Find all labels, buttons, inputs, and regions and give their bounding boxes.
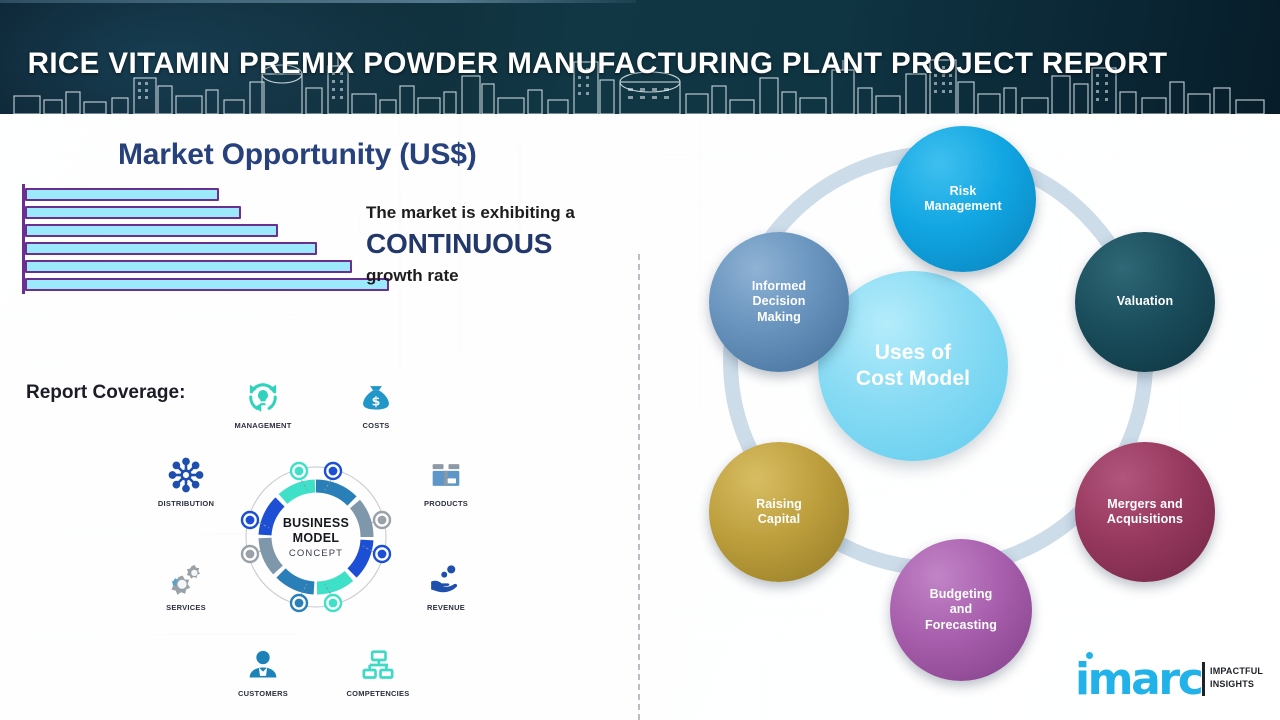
logo-wordmark: imarc xyxy=(1075,658,1201,702)
org-chart-icon xyxy=(340,644,416,686)
coverage-label-costs: COSTS xyxy=(341,421,411,430)
person-icon xyxy=(228,644,298,686)
bar-5 xyxy=(25,278,389,291)
slide-body: Market Opportunity (US$) The market is e… xyxy=(0,114,1280,720)
node-mergers-line-2: Acquisitions xyxy=(1101,512,1189,527)
recycle-lightbulb-icon xyxy=(225,376,301,418)
node-mergers-and-acquisitions[interactable]: Mergers and Acquisitions xyxy=(1075,442,1215,582)
bar-1 xyxy=(25,206,241,219)
coverage-item-management: MANAGEMENT xyxy=(225,376,301,430)
node-raising-capital[interactable]: Raising Capital xyxy=(709,442,849,582)
node-risk-line-1: Risk xyxy=(918,184,1007,199)
growth-emphasis: CONTINUOUS xyxy=(366,224,638,264)
report-coverage-label: Report Coverage: xyxy=(26,382,185,404)
coverage-label-services: SERVICES xyxy=(148,603,224,612)
package-box-icon xyxy=(411,454,481,496)
market-opportunity-title: Market Opportunity (US$) xyxy=(118,138,477,172)
node-mergers-line-1: Mergers and xyxy=(1101,497,1189,512)
coverage-item-services: SERVICES xyxy=(148,558,224,612)
header-banner: RICE VITAMIN PREMIX POWDER MANUFACTURING… xyxy=(0,0,1280,114)
svg-text:$: $ xyxy=(372,393,381,408)
left-panel: Market Opportunity (US$) The market is e… xyxy=(0,114,638,720)
node-center-line-1: Uses of xyxy=(850,340,976,366)
node-valuation[interactable]: Valuation xyxy=(1075,232,1215,372)
growth-callout: The market is exhibiting a CONTINUOUS gr… xyxy=(366,202,638,288)
node-informed-line-1: Informed xyxy=(746,279,812,294)
node-informed-line-3: Making xyxy=(746,310,812,325)
bar-2 xyxy=(25,224,278,237)
bar-3 xyxy=(25,242,317,255)
coverage-label-products: PRODUCTS xyxy=(411,499,481,508)
business-model-donut xyxy=(233,454,399,620)
growth-line-1: The market is exhibiting a xyxy=(366,202,638,224)
node-center-line-2: Cost Model xyxy=(850,366,976,392)
node-risk-line-2: Management xyxy=(918,199,1007,214)
node-raising-line-2: Capital xyxy=(750,512,808,527)
gears-icon xyxy=(148,558,224,600)
coverage-item-distribution: DISTRIBUTION xyxy=(148,454,224,508)
coverage-label-competencies: COMPETENCIES xyxy=(340,689,416,698)
node-budget-line-3: Forecasting xyxy=(919,618,1003,633)
coverage-item-costs: $ COSTS xyxy=(341,376,411,430)
node-budgeting-and-forecasting[interactable]: Budgeting and Forecasting xyxy=(890,539,1032,681)
node-informed-decision-making[interactable]: Informed Decision Making xyxy=(709,232,849,372)
coverage-item-customers: CUSTOMERS xyxy=(228,644,298,698)
growth-line-3: growth rate xyxy=(366,264,638,288)
right-panel: Uses of Cost Model Risk Management Valua… xyxy=(638,114,1280,720)
logo-divider-bar xyxy=(1202,662,1205,696)
logo-tagline-line-2: INSIGHTS xyxy=(1210,679,1254,689)
node-raising-line-1: Raising xyxy=(750,497,808,512)
market-opportunity-bar-chart xyxy=(22,184,402,294)
page-title: RICE VITAMIN PREMIX POWDER MANUFACTURING… xyxy=(0,47,1167,81)
imarc-logo[interactable]: imarc IMPACTFUL INSIGHTS xyxy=(1070,650,1266,706)
coverage-item-revenue: REVENUE xyxy=(411,558,481,612)
network-nodes-icon xyxy=(148,454,224,496)
coverage-label-management: MANAGEMENT xyxy=(225,421,301,430)
header-title-band: RICE VITAMIN PREMIX POWDER MANUFACTURING… xyxy=(0,36,1280,92)
node-budget-line-2: and xyxy=(919,602,1003,617)
business-model-diagram: BUSINESS MODEL CONCEPT xyxy=(233,454,399,620)
money-bag-icon: $ xyxy=(341,376,411,418)
logo-tagline-line-1: IMPACTFUL xyxy=(1210,666,1263,676)
slide-root: RICE VITAMIN PREMIX POWDER MANUFACTURING… xyxy=(0,0,1280,720)
node-informed-line-2: Decision xyxy=(746,294,812,309)
bar-0 xyxy=(25,188,219,201)
node-valuation-label: Valuation xyxy=(1111,294,1179,309)
coverage-label-customers: CUSTOMERS xyxy=(228,689,298,698)
hand-coins-icon xyxy=(411,558,481,600)
coverage-item-competencies: COMPETENCIES xyxy=(340,644,416,698)
coverage-label-revenue: REVENUE xyxy=(411,603,481,612)
header-accent-line xyxy=(0,0,636,3)
coverage-label-distribution: DISTRIBUTION xyxy=(148,499,224,508)
bar-4 xyxy=(25,260,352,273)
coverage-item-products: PRODUCTS xyxy=(411,454,481,508)
node-risk-management[interactable]: Risk Management xyxy=(890,126,1036,272)
node-budget-line-1: Budgeting xyxy=(919,587,1003,602)
